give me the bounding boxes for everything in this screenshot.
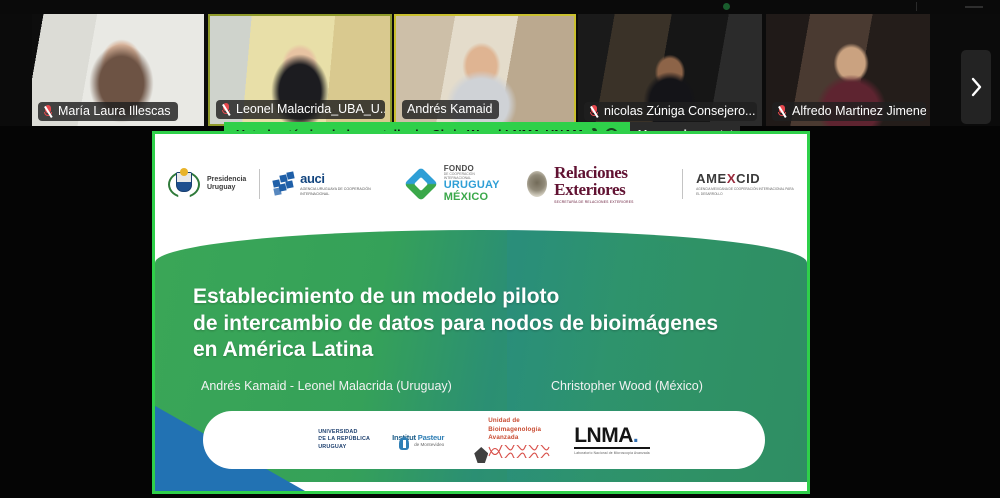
sponsor-logo-row: Presidencia Uruguay auci AGENCIA URUGUAY…	[155, 158, 807, 210]
slide-title-line2: de intercambio de datos para nodos de bi…	[193, 311, 793, 338]
logo-relaciones-exteriores: Relaciones Exteriores SECRETARÍA DE RELA…	[514, 164, 682, 204]
amexcid-name: AMEXCID	[696, 172, 794, 185]
slide-title: Establecimiento de un modelo piloto de i…	[193, 284, 793, 364]
presidencia-label: Presidencia Uruguay	[207, 176, 246, 192]
lnma-sub: Laboratorio Nacional de Microscopía Avan…	[574, 451, 650, 455]
mic-muted-icon	[589, 105, 599, 118]
participant-name-chip: nicolas Zúniga Consejero...	[584, 102, 757, 121]
chevron-right-icon	[970, 77, 983, 97]
authors-mexico: Christopher Wood (México)	[551, 379, 703, 393]
slide-title-line1: Establecimiento de un modelo piloto	[193, 284, 793, 311]
shared-screen-area[interactable]: Presidencia Uruguay auci AGENCIA URUGUAY…	[152, 131, 810, 494]
auci-name: auci	[300, 172, 378, 185]
institution-logo-bar: UNIVERSIDAD DE LA REPÚBLICA URUGUAY Inst…	[203, 411, 765, 469]
uruguay-coat-of-arms-icon	[168, 168, 200, 200]
amexcid-sub: AGENCIA MEXICANA DE COOPERACIÓN INTERNAC…	[696, 187, 794, 196]
participant-name-chip: María Laura Illescas	[38, 102, 178, 121]
participant-tile[interactable]: Leonel Malacrida_UBA_U...	[208, 14, 392, 126]
zoom-meeting-window: María Laura Illescas Leonel Malacrida_UB…	[0, 0, 1000, 498]
participant-name-chip: Alfredo Martinez Jimenez	[772, 102, 926, 121]
lnma-name: LNMA.	[574, 425, 650, 449]
uba-line1: Unidad de	[488, 417, 552, 425]
slide-authors: Andrés Kamaid - Leonel Malacrida (Urugua…	[201, 379, 801, 393]
participant-tile[interactable]: Alfredo Martinez Jimenez	[766, 14, 930, 126]
participant-tile[interactable]: María Laura Illescas	[32, 14, 204, 126]
mic-muted-icon	[43, 105, 53, 118]
participant-tile[interactable]: Andrés Kamaid	[394, 14, 576, 126]
minimize-icon[interactable]	[965, 6, 983, 8]
logo-institut-pasteur: Institut Pasteur de Montevideo	[392, 433, 444, 447]
sre-name: Relaciones Exteriores	[554, 164, 669, 198]
participant-name-chip: Leonel Malacrida_UBA_U...	[216, 100, 385, 119]
uba-line3: Avanzada	[488, 434, 552, 442]
mic-muted-icon	[221, 103, 231, 116]
participant-name: Leonel Malacrida_UBA_U...	[236, 102, 385, 116]
logo-amexcid: AMEXCID AGENCIA MEXICANA DE COOPERACIÓN …	[683, 172, 807, 196]
auci-mark-icon	[273, 172, 293, 196]
status-indicator-icon	[723, 3, 730, 10]
participant-tile[interactable]: nicolas Zúniga Consejero...	[578, 14, 762, 126]
mic-muted-icon	[777, 105, 787, 118]
participant-name: María Laura Illescas	[58, 104, 171, 118]
logo-udelar: UNIVERSIDAD DE LA REPÚBLICA URUGUAY	[318, 429, 370, 451]
next-participants-button[interactable]	[961, 50, 991, 124]
logo-fondo-uruguay-mexico: FONDO DE COOPERACIÓN INTERNACIONAL URUGU…	[391, 165, 514, 203]
slide-title-line3: en América Latina	[193, 337, 793, 364]
presentation-slide: Presidencia Uruguay auci AGENCIA URUGUAY…	[155, 134, 807, 491]
chrome-divider	[916, 2, 917, 11]
dna-wave-icon	[488, 445, 552, 458]
participant-name: nicolas Zúniga Consejero...	[604, 104, 755, 118]
logo-presidencia-uruguay: Presidencia Uruguay	[155, 168, 259, 200]
window-top-chrome	[0, 0, 1000, 14]
participant-filmstrip: María Laura Illescas Leonel Malacrida_UB…	[0, 14, 1000, 126]
participant-name: Andrés Kamaid	[407, 102, 492, 116]
udelar-line3: URUGUAY	[318, 444, 370, 451]
fondo-diamond-icon	[404, 167, 437, 201]
participant-name: Alfredo Martinez Jimenez	[792, 104, 926, 118]
participant-name-chip: Andrés Kamaid	[402, 100, 499, 119]
fondo-uruguay: URUGUAY	[444, 180, 501, 191]
logo-lnma: LNMA. Laboratorio Nacional de Microscopí…	[574, 425, 650, 455]
auci-sub: AGENCIA URUGUAYA DE COOPERACIÓN INTERNAC…	[300, 187, 378, 197]
authors-uruguay: Andrés Kamaid - Leonel Malacrida (Urugua…	[201, 379, 551, 393]
udelar-line2: DE LA REPÚBLICA	[318, 436, 370, 443]
uba-line2: Bioimagenología	[488, 426, 552, 434]
logo-auci: auci AGENCIA URUGUAYA DE COOPERACIÓN INT…	[260, 172, 391, 197]
sre-sub: SECRETARÍA DE RELACIONES EXTERIORES	[554, 200, 669, 204]
logo-unidad-bioimagenologia: Unidad de Bioimagenología Avanzada	[488, 417, 552, 462]
fondo-mexico: MÉXICO	[444, 192, 501, 203]
mexico-seal-icon	[527, 171, 547, 197]
